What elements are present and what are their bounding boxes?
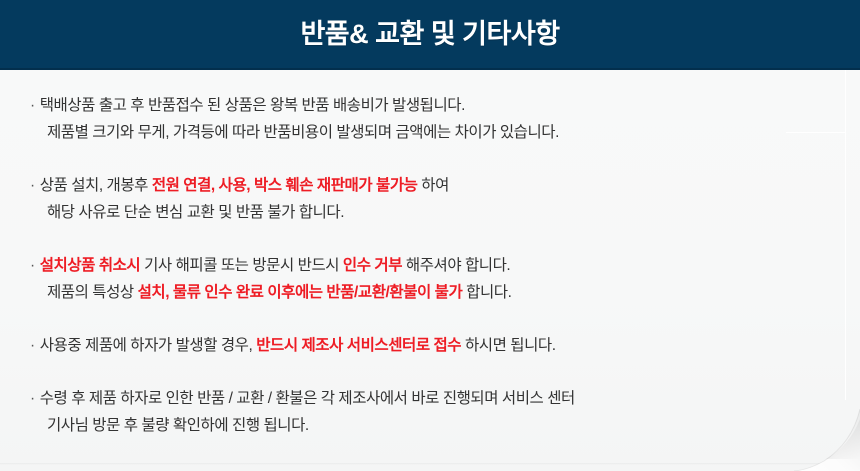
policy-text: 해주셔야 합니다. [402,257,510,274]
notice-body: ·택배상품 출고 후 반품접수 된 상품은 왕복 반품 배송비가 발생됩니다.제… [0,70,860,471]
policy-line-continuation: 해당 사유로 단순 변심 교환 및 반품 불가 합니다. [30,199,860,226]
policy-line-primary: ·사용중 제품에 하자가 발생할 경우, 반드시 제조사 서비스센터로 접수 하… [30,332,860,359]
bullet-dot-icon: · [30,97,35,114]
policy-text-emphasis: 전원 연결, 사용, 박스 훼손 재판매가 불가능 [152,177,418,194]
policy-text-emphasis: 설치, 물류 인수 완료 이후에는 반품/교환/환불이 불가 [138,284,463,301]
policy-text: 사용중 제품에 하자가 발생할 경우, [40,337,256,354]
bullet-dot-icon: · [30,257,35,274]
notice-header: 반품& 교환 및 기타사항 [0,0,860,70]
bullet-dot-icon: · [30,177,35,194]
page-title: 반품& 교환 및 기타사항 [300,21,559,48]
policy-line-primary: ·수령 후 제품 하자로 인한 반품 / 교환 / 환불은 각 제조사에서 바로… [30,385,860,412]
policy-text: 제품별 크기와 무게, 가격등에 따라 반품비용이 발생되며 금액에는 차이가 … [47,124,559,141]
policy-line-continuation: 제품의 특성상 설치, 물류 인수 완료 이후에는 반품/교환/환불이 불가 합… [30,279,860,306]
policy-text: 택배상품 출고 후 반품접수 된 상품은 왕복 반품 배송비가 발생됩니다. [40,97,465,114]
policy-text: 상품 설치, 개봉후 [40,177,152,194]
policy-bullet-list: ·택배상품 출고 후 반품접수 된 상품은 왕복 반품 배송비가 발생됩니다.제… [30,92,860,439]
policy-bullet-item: ·수령 후 제품 하자로 인한 반품 / 교환 / 환불은 각 제조사에서 바로… [30,385,860,439]
bullet-dot-icon: · [30,337,35,354]
return-policy-card: 반품& 교환 및 기타사항 ·택배상품 출고 후 반품접수 된 상품은 왕복 반… [0,0,860,471]
policy-text-emphasis: 설치상품 취소시 [40,257,141,274]
policy-line-continuation: 기사님 방문 후 불량 확인하에 진행 됩니다. [30,412,860,439]
policy-text: 하여 [417,177,448,194]
policy-line-primary: ·설치상품 취소시 기사 해피콜 또는 방문시 반드시 인수 거부 해주셔야 합… [30,252,860,279]
policy-bullet-item: ·설치상품 취소시 기사 해피콜 또는 방문시 반드시 인수 거부 해주셔야 합… [30,252,860,306]
policy-text: 합니다. [462,284,511,301]
policy-text: 기사님 방문 후 불량 확인하에 진행 됩니다. [47,417,309,434]
bullet-dot-icon: · [30,390,35,407]
policy-line-primary: ·상품 설치, 개봉후 전원 연결, 사용, 박스 훼손 재판매가 불가능 하여 [30,172,860,199]
policy-text-emphasis: 인수 거부 [343,257,402,274]
policy-text: 하시면 됩니다. [461,337,555,354]
policy-text: 제품의 특성상 [47,284,138,301]
policy-text-emphasis: 반드시 제조사 서비스센터로 접수 [256,337,461,354]
policy-text: 수령 후 제품 하자로 인한 반품 / 교환 / 환불은 각 제조사에서 바로 … [40,390,575,407]
policy-text: 해당 사유로 단순 변심 교환 및 반품 불가 합니다. [47,204,344,221]
policy-text: 기사 해피콜 또는 방문시 반드시 [140,257,343,274]
policy-bullet-item: ·상품 설치, 개봉후 전원 연결, 사용, 박스 훼손 재판매가 불가능 하여… [30,172,860,226]
policy-bullet-item: ·택배상품 출고 후 반품접수 된 상품은 왕복 반품 배송비가 발생됩니다.제… [30,92,860,146]
policy-line-continuation: 제품별 크기와 무게, 가격등에 따라 반품비용이 발생되며 금액에는 차이가 … [30,119,860,146]
policy-bullet-item: ·사용중 제품에 하자가 발생할 경우, 반드시 제조사 서비스센터로 접수 하… [30,332,860,359]
policy-line-primary: ·택배상품 출고 후 반품접수 된 상품은 왕복 반품 배송비가 발생됩니다. [30,92,860,119]
